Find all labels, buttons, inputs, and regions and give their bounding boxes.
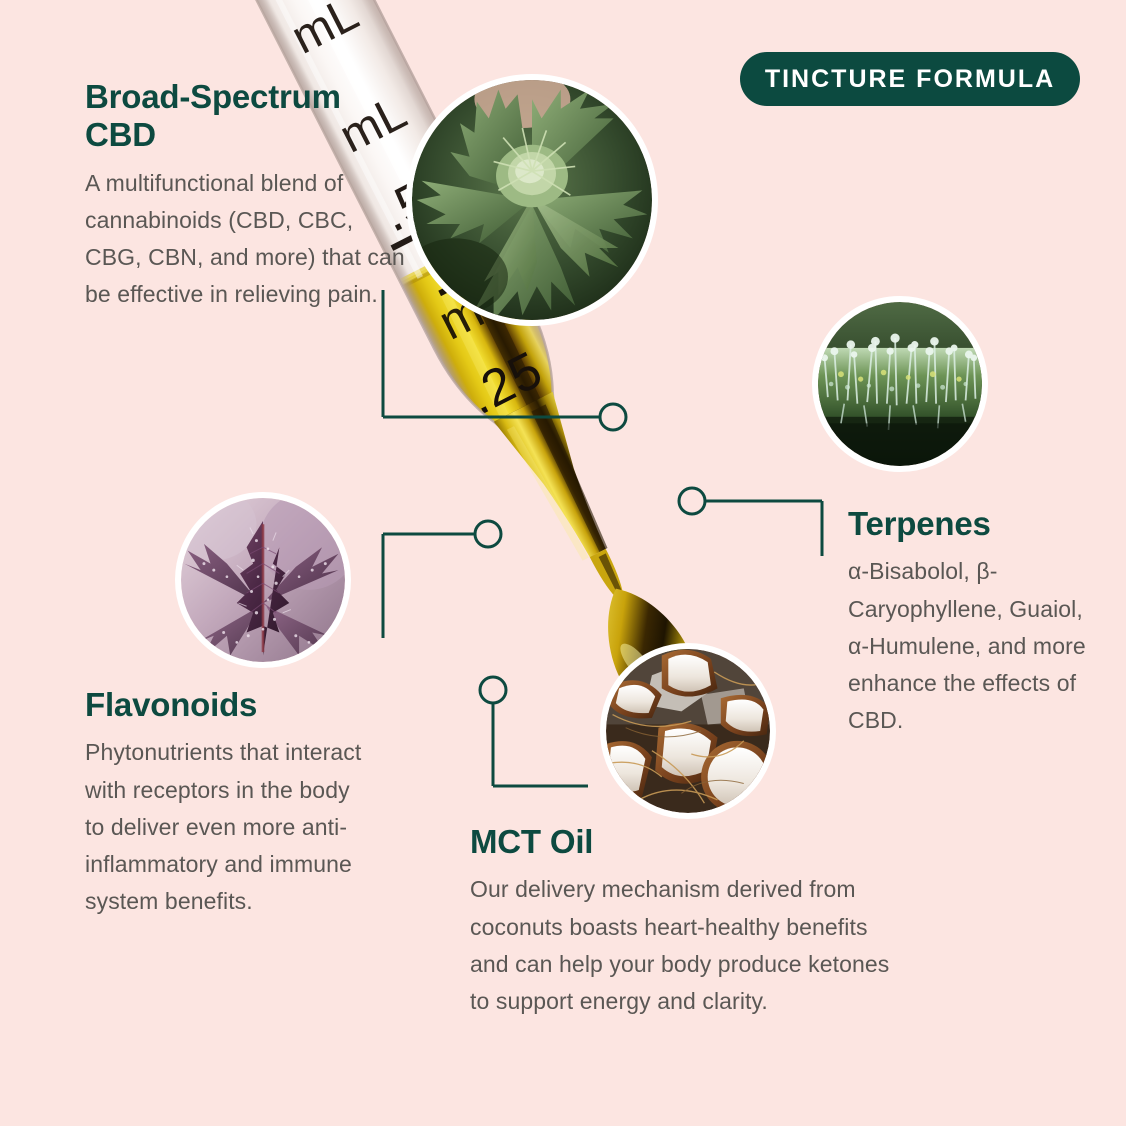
purple-cannabis-leaf-photo	[175, 492, 351, 668]
badge-label: TINCTURE FORMULA	[765, 65, 1055, 94]
broad-spectrum-body: A multifunctional blend of cannabinoids …	[85, 165, 415, 314]
mct-oil-heading: MCT Oil	[470, 823, 890, 861]
section-mct-oil: MCT Oil Our delivery mechanism derived f…	[470, 823, 890, 1020]
section-terpenes: Terpenes α-Bisabolol, β-Caryophyllene, G…	[848, 505, 1088, 740]
mct-oil-body: Our delivery mechanism derived from coco…	[470, 871, 890, 1020]
flavonoids-heading: Flavonoids	[85, 686, 375, 724]
trichome-macro-photo	[812, 296, 988, 472]
coconut-pieces-photo	[600, 643, 776, 819]
infographic-canvas: .50 mL mL mL .25	[0, 0, 1126, 1126]
section-broad-spectrum: Broad-Spectrum CBD A multifunctional ble…	[85, 78, 415, 314]
terpenes-heading: Terpenes	[848, 505, 1088, 543]
terpenes-body: α-Bisabolol, β-Caryophyllene, Guaiol, α-…	[848, 553, 1088, 739]
cannabis-plant-photo	[406, 74, 658, 326]
tincture-formula-badge: TINCTURE FORMULA	[740, 52, 1080, 106]
flavonoids-body: Phytonutrients that interact with recept…	[85, 734, 375, 920]
section-flavonoids: Flavonoids Phytonutrients that interact …	[85, 686, 375, 921]
broad-spectrum-heading: Broad-Spectrum CBD	[85, 78, 415, 155]
